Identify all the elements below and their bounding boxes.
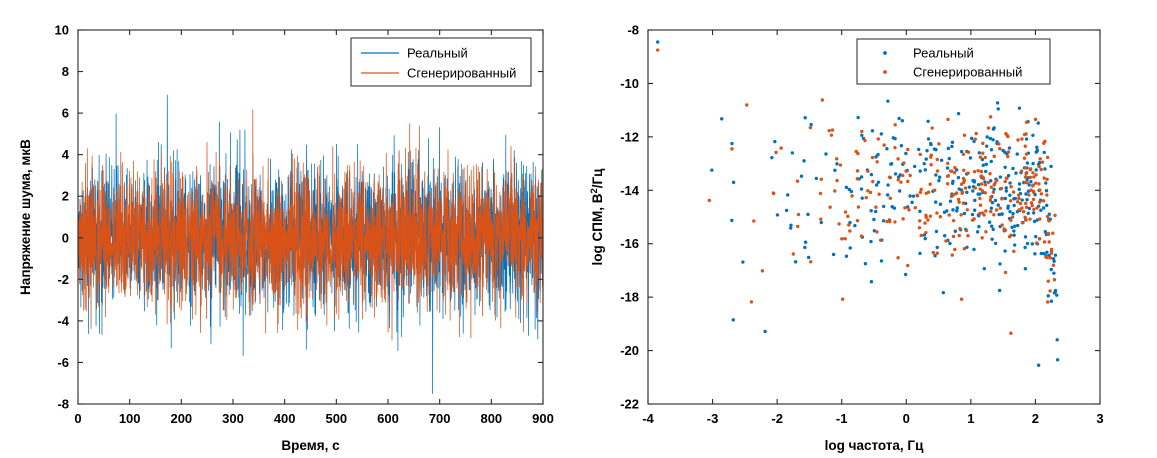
scatter-point-real — [1024, 192, 1027, 195]
scatter-point-real — [992, 126, 995, 129]
scatter-point-real — [871, 129, 874, 132]
x-tick-label: 0 — [74, 411, 81, 426]
scatter-point-generated — [958, 227, 961, 230]
scatter-point-real — [919, 169, 922, 172]
scatter-point-generated — [937, 142, 940, 145]
scatter-point-generated — [1007, 150, 1010, 153]
scatter-point-real — [925, 149, 928, 152]
scatter-point-generated — [979, 155, 982, 158]
scatter-point-generated — [1047, 280, 1050, 283]
scatter-point-real — [1013, 243, 1016, 246]
scatter-point-real — [1035, 168, 1038, 171]
scatter-point-generated — [973, 170, 976, 173]
scatter-point-real — [984, 170, 987, 173]
scatter-point-generated — [920, 234, 923, 237]
scatter-point-real — [860, 187, 863, 190]
scatter-point-real — [800, 175, 803, 178]
scatter-point-generated — [1020, 137, 1023, 140]
scatter-point-generated — [946, 118, 949, 121]
scatter-point-real — [947, 147, 950, 150]
y-axis-title: Напряжение шума, мкВ — [18, 139, 33, 295]
scatter-point-real — [710, 168, 713, 171]
scatter-point-real — [1012, 229, 1015, 232]
scatter-point-generated — [1000, 197, 1003, 200]
scatter-point-real — [882, 205, 885, 208]
scatter-point-outlier — [732, 318, 735, 321]
scatter-point-generated — [874, 205, 877, 208]
scatter-point-generated — [1035, 206, 1038, 209]
scatter-point-real — [730, 219, 733, 222]
scatter-point-generated — [981, 142, 984, 145]
x-tick-label: 0 — [903, 411, 910, 426]
scatter-point-generated — [856, 169, 859, 172]
scatter-point-real — [872, 218, 875, 221]
scatter-point-generated — [1029, 188, 1032, 191]
scatter-point-generated — [980, 170, 983, 173]
scatter-point-real — [835, 162, 838, 165]
scatter-point-generated — [1009, 199, 1012, 202]
scatter-point-real — [998, 289, 1001, 292]
scatter-point-generated — [1000, 187, 1003, 190]
scatter-point-real — [1029, 180, 1032, 183]
scatter-point-real — [845, 255, 848, 258]
scatter-point-real — [1003, 151, 1006, 154]
scatter-point-real — [997, 107, 1000, 110]
scatter-point-generated — [947, 174, 950, 177]
scatter-point-generated — [1006, 135, 1009, 138]
scatter-point-generated — [984, 209, 987, 212]
scatter-point-real — [988, 220, 991, 223]
scatter-point-generated — [974, 132, 977, 135]
scatter-point-generated — [1034, 181, 1037, 184]
scatter-point-real — [957, 176, 960, 179]
scatter-point-real — [942, 291, 945, 294]
scatter-point-real — [1018, 188, 1021, 191]
scatter-point-real — [1047, 294, 1050, 297]
scatter-point-generated — [1047, 219, 1050, 222]
scatter-point-real — [978, 151, 981, 154]
scatter-point-generated — [1012, 190, 1015, 193]
scatter-point-generated — [1022, 210, 1025, 213]
scatter-point-real — [1024, 235, 1027, 238]
scatter-point-real — [803, 246, 806, 249]
scatter-point-generated — [1025, 121, 1028, 124]
scatter-point-real — [913, 165, 916, 168]
scatter-point-generated — [797, 213, 800, 216]
x-tick-label: 900 — [532, 411, 554, 426]
scatter-point-generated — [987, 126, 990, 129]
scatter-point-generated — [831, 128, 834, 131]
scatter-point-generated — [1020, 169, 1023, 172]
scatter-point-real — [880, 259, 883, 262]
scatter-point-generated — [796, 179, 799, 182]
scatter-point-generated — [960, 183, 963, 186]
scatter-point-real — [1044, 181, 1047, 184]
scatter-point-real — [934, 200, 937, 203]
scatter-point-real — [789, 226, 792, 229]
scatter-point-generated — [1024, 172, 1027, 175]
scatter-point-generated — [981, 152, 984, 155]
scatter-point-real — [791, 151, 794, 154]
scatter-point-real — [910, 201, 913, 204]
scatter-point-generated — [1030, 201, 1033, 204]
scatter-point-real — [1035, 150, 1038, 153]
scatter-point-real — [982, 164, 985, 167]
scatter-point-real — [1014, 171, 1017, 174]
scatter-point-real — [882, 219, 885, 222]
y-axis-title: log СПМ, В2/Гц — [589, 168, 606, 266]
scatter-point-real — [904, 152, 907, 155]
legend: РеальныйСгенерированный — [351, 38, 531, 86]
chart-panel-timeseries: 0100200300400500600700800900-8-6-4-20246… — [0, 0, 578, 458]
scatter-point-generated — [902, 161, 905, 164]
scatter-point-real — [949, 199, 952, 202]
scatter-point-real — [856, 116, 859, 119]
scatter-point-generated — [919, 188, 922, 191]
scatter-point-generated — [1034, 173, 1037, 176]
scatter-point-real — [1032, 211, 1035, 214]
scatter-point-real — [885, 147, 888, 150]
scatter-point-generated — [889, 197, 892, 200]
scatter-point-generated — [1053, 278, 1056, 281]
y-tick-label: -8 — [57, 397, 69, 412]
x-tick-label: 100 — [119, 411, 141, 426]
scatter-point-generated — [856, 177, 859, 180]
scatter-point-real — [1004, 197, 1007, 200]
scatter-point-real — [1033, 252, 1036, 255]
legend-label: Реальный — [913, 46, 974, 61]
scatter-point-generated — [837, 222, 840, 225]
scatter-point-real — [1016, 224, 1019, 227]
scatter-point-generated — [828, 206, 831, 209]
scatter-point-generated — [980, 182, 983, 185]
scatter-point-generated — [1031, 171, 1034, 174]
scatter-point-real — [989, 137, 992, 140]
scatter-point-generated — [896, 157, 899, 160]
scatter-point-generated — [931, 126, 934, 129]
scatter-point-real — [1016, 152, 1019, 155]
scatter-point-generated — [893, 146, 896, 149]
x-tick-label: 1 — [967, 411, 974, 426]
scatter-point-real — [1018, 182, 1021, 185]
scatter-point-generated — [948, 213, 951, 216]
scatter-point-generated — [1017, 197, 1020, 200]
scatter-point-real — [1031, 162, 1034, 165]
scatter-point-generated — [966, 208, 969, 211]
scatter-point-real — [990, 237, 993, 240]
scatter-point-generated — [962, 201, 965, 204]
scatter-point-real — [741, 260, 744, 263]
scatter-point-real — [1045, 189, 1048, 192]
scatter-point-real — [955, 209, 958, 212]
scatter-point-real — [1050, 268, 1053, 271]
scatter-point-real — [893, 206, 896, 209]
scatter-point-real — [720, 117, 723, 120]
scatter-point-real — [992, 188, 995, 191]
scatter-point-generated — [939, 215, 942, 218]
scatter-point-real — [848, 246, 851, 249]
scatter-point-real — [874, 155, 877, 158]
scatter-point-generated — [855, 150, 858, 153]
scatter-point-real — [973, 180, 976, 183]
x-tick-label: -1 — [836, 411, 848, 426]
scatter-point-generated — [957, 198, 960, 201]
scatter-point-generated — [1045, 178, 1048, 181]
scatter-point-generated — [1025, 206, 1028, 209]
scatter-point-generated — [843, 237, 846, 240]
scatter-point-generated — [960, 297, 963, 300]
y-tick-label: 8 — [62, 64, 69, 79]
x-tick-label: 500 — [325, 411, 347, 426]
scatter-point-generated — [935, 211, 938, 214]
scatter-point-real — [983, 267, 986, 270]
scatter-point-real — [892, 136, 895, 139]
scatter-point-real — [886, 183, 889, 186]
scatter-point-generated — [963, 247, 966, 250]
scatter-point-generated — [1046, 156, 1049, 159]
scatter-point-real — [1054, 254, 1057, 257]
scatter-point-real — [1000, 212, 1003, 215]
scatter-point-real — [870, 280, 873, 283]
scatter-point-generated — [959, 213, 962, 216]
scatter-point-generated — [857, 205, 860, 208]
scatter-point-generated — [860, 234, 863, 237]
scatter-point-generated — [866, 170, 869, 173]
scatter-point-generated — [953, 171, 956, 174]
scatter-point-generated — [1042, 199, 1045, 202]
scatter-point-generated — [856, 219, 859, 222]
scatter-point-real — [943, 234, 946, 237]
scatter-point-generated — [779, 146, 782, 149]
scatter-point-real — [1011, 167, 1014, 170]
scatter-point-generated — [958, 234, 961, 237]
scatter-point-generated — [1034, 118, 1037, 121]
scatter-point-generated — [835, 179, 838, 182]
scatter-point-real — [1034, 235, 1037, 238]
scatter-point-real — [1049, 165, 1052, 168]
scatter-point-generated — [1005, 177, 1008, 180]
scatter-point-real — [1031, 134, 1034, 137]
scatter-point-generated — [752, 219, 755, 222]
scatter-point-real — [985, 135, 988, 138]
x-tick-label: 700 — [429, 411, 451, 426]
scatter-point-real — [886, 99, 889, 102]
scatter-point-generated — [919, 191, 922, 194]
scatter-point-generated — [819, 217, 822, 220]
scatter-point-real — [934, 173, 937, 176]
scatter-point-real — [832, 253, 835, 256]
scatter-point-generated — [928, 183, 931, 186]
psd-data-layer — [656, 40, 1059, 367]
scatter-point-outlier — [730, 142, 733, 145]
scatter-point-generated — [995, 179, 998, 182]
scatter-point-generated — [1037, 165, 1040, 168]
y-tick-label: 2 — [62, 189, 69, 204]
scatter-point-real — [776, 213, 779, 216]
scatter-point-generated — [850, 194, 853, 197]
scatter-point-real — [973, 199, 976, 202]
scatter-point-real — [999, 175, 1002, 178]
scatter-point-real — [926, 120, 929, 123]
scatter-point-real — [1040, 252, 1043, 255]
scatter-point-real — [833, 169, 836, 172]
scatter-point-real — [1043, 167, 1046, 170]
x-tick-label: 200 — [170, 411, 192, 426]
scatter-point-generated — [978, 197, 981, 200]
y-tick-label: -2 — [57, 272, 69, 287]
scatter-point-real — [936, 246, 939, 249]
y-tick-label: 6 — [62, 106, 69, 121]
scatter-point-generated — [972, 217, 975, 220]
scatter-point-real — [824, 152, 827, 155]
scatter-point-real — [1026, 242, 1029, 245]
scatter-point-generated — [936, 169, 939, 172]
scatter-point-generated — [901, 174, 904, 177]
scatter-point-generated — [1002, 227, 1005, 230]
scatter-point-real — [869, 240, 872, 243]
scatter-point-real — [1056, 358, 1059, 361]
scatter-point-generated — [926, 218, 929, 221]
scatter-point-generated — [893, 123, 896, 126]
scatter-point-real — [970, 137, 973, 140]
scatter-point-generated — [989, 210, 992, 213]
scatter-point-generated — [846, 215, 849, 218]
scatter-point-generated — [1038, 217, 1041, 220]
scatter-point-real — [1045, 251, 1048, 254]
scatter-point-generated — [1047, 232, 1050, 235]
scatter-point-generated — [772, 192, 775, 195]
scatter-point-generated — [964, 186, 967, 189]
scatter-point-real — [802, 159, 805, 162]
scatter-point-real — [957, 112, 960, 115]
scatter-point-real — [1014, 197, 1017, 200]
scatter-point-generated — [989, 115, 992, 118]
scatter-point-generated — [967, 151, 970, 154]
scatter-point-generated — [1004, 271, 1007, 274]
scatter-point-generated — [844, 210, 847, 213]
scatter-point-generated — [839, 163, 842, 166]
scatter-point-real — [877, 180, 880, 183]
scatter-point-real — [1021, 198, 1024, 201]
scatter-point-real — [901, 119, 904, 122]
scatter-point-generated — [809, 126, 812, 129]
scatter-point-generated — [1042, 176, 1045, 179]
scatter-point-generated — [888, 220, 891, 223]
scatter-point-generated — [865, 196, 868, 199]
scatter-point-generated — [918, 219, 921, 222]
figure-root: 0100200300400500600700800900-8-6-4-20246… — [0, 0, 1157, 458]
scatter-point-generated — [708, 199, 711, 202]
scatter-point-real — [1055, 338, 1058, 341]
scatter-point-real — [927, 137, 930, 140]
scatter-point-generated — [952, 235, 955, 238]
scatter-point-generated — [992, 213, 995, 216]
scatter-point-generated — [866, 189, 869, 192]
y-tick-label: -8 — [627, 23, 639, 38]
scatter-point-generated — [1050, 250, 1053, 253]
scatter-point-generated — [1032, 198, 1035, 201]
scatter-point-generated — [1048, 289, 1051, 292]
scatter-point-generated — [914, 206, 917, 209]
scatter-point-generated — [999, 206, 1002, 209]
x-tick-label: -3 — [707, 411, 719, 426]
psd-scatter-plot: -4-3-2-10123-22-20-18-16-14-12-10-8log ч… — [578, 0, 1157, 458]
scatter-point-real — [820, 221, 823, 224]
scatter-point-generated — [923, 221, 926, 224]
scatter-point-generated — [995, 208, 998, 211]
scatter-point-generated — [1025, 152, 1028, 155]
scatter-point-generated — [1023, 133, 1026, 136]
scatter-point-real — [1025, 137, 1028, 140]
scatter-point-real — [985, 163, 988, 166]
scatter-point-generated — [906, 148, 909, 151]
scatter-point-generated — [974, 137, 977, 140]
scatter-point-generated — [1041, 160, 1044, 163]
scatter-point-generated — [919, 153, 922, 156]
scatter-point-generated — [929, 215, 932, 218]
scatter-point-generated — [840, 237, 843, 240]
scatter-point-generated — [929, 163, 932, 166]
scatter-point-real — [853, 224, 856, 227]
scatter-point-real — [946, 166, 949, 169]
scatter-point-generated — [893, 220, 896, 223]
scatter-point-generated — [1037, 182, 1040, 185]
scatter-point-generated — [953, 248, 956, 251]
scatter-point-real — [908, 194, 911, 197]
scatter-point-generated — [961, 190, 964, 193]
scatter-point-real — [971, 189, 974, 192]
scatter-point-real — [1024, 267, 1027, 270]
scatter-point-real — [972, 248, 975, 251]
legend-swatch-dot — [883, 51, 887, 55]
scatter-point-generated — [875, 230, 878, 233]
scatter-point-real — [918, 252, 921, 255]
scatter-point-real — [1025, 198, 1028, 201]
scatter-point-generated — [1028, 217, 1031, 220]
scatter-point-real — [1008, 146, 1011, 149]
scatter-point-generated — [1003, 180, 1006, 183]
scatter-point-real — [998, 262, 1001, 265]
scatter-point-generated — [745, 103, 748, 106]
scatter-point-generated — [906, 180, 909, 183]
scatter-point-generated — [904, 169, 907, 172]
series-line-generated — [78, 110, 543, 340]
scatter-point-real — [815, 177, 818, 180]
scatter-point-generated — [1023, 157, 1026, 160]
scatter-point-real — [785, 209, 788, 212]
scatter-point-generated — [984, 191, 987, 194]
x-tick-label: 2 — [1032, 411, 1039, 426]
scatter-point-generated — [827, 129, 830, 132]
scatter-point-generated — [981, 211, 984, 214]
scatter-point-generated — [1009, 185, 1012, 188]
y-tick-label: -10 — [620, 76, 639, 91]
scatter-point-real — [994, 199, 997, 202]
scatter-point-real — [1013, 233, 1016, 236]
scatter-point-real — [890, 162, 893, 165]
scatter-point-generated — [952, 219, 955, 222]
scatter-point-real — [922, 162, 925, 165]
scatter-point-real — [880, 132, 883, 135]
svg-text:log СПМ, В2/Гц: log СПМ, В2/Гц — [589, 168, 606, 266]
scatter-point-real — [807, 256, 810, 259]
scatter-point-generated — [936, 252, 939, 255]
scatter-point-generated — [1052, 264, 1055, 267]
scatter-point-real — [937, 179, 940, 182]
scatter-point-real — [898, 189, 901, 192]
x-tick-label: 400 — [274, 411, 296, 426]
scatter-point-real — [973, 209, 976, 212]
